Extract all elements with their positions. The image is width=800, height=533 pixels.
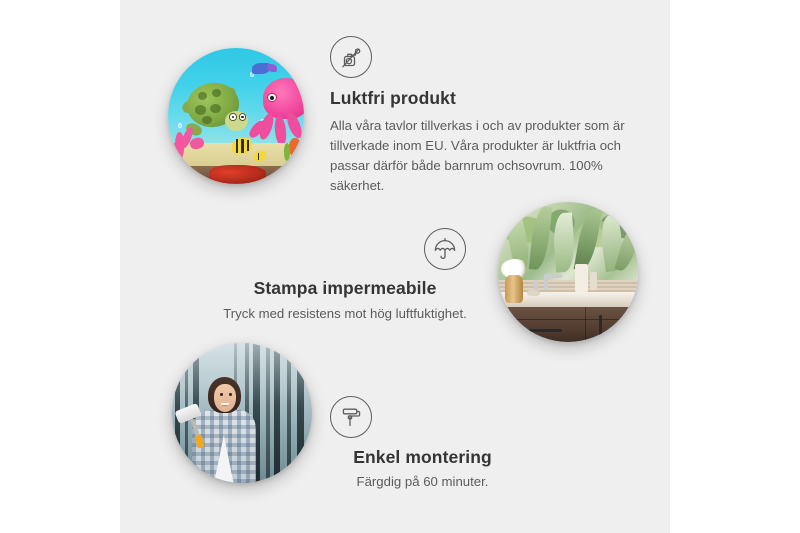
feature-title: Luktfri produkt bbox=[330, 88, 630, 110]
screenshot-stage: Luktfri produkt Alla våra tavlor tillver… bbox=[0, 0, 800, 533]
feature-body: Tryck med resistens mot hög luftfuktighe… bbox=[200, 304, 490, 324]
feature-easy-mounting: Enkel montering Färgdig på 60 minuter. bbox=[305, 396, 540, 492]
feature-waterproof: Stampa impermeabile Tryck med resistens … bbox=[200, 228, 490, 324]
product-image-forest[interactable] bbox=[172, 343, 312, 483]
no-fragrance-icon bbox=[330, 36, 372, 78]
feature-odourless: Luktfri produkt Alla våra tavlor tillver… bbox=[330, 36, 630, 196]
underwater-scene bbox=[168, 48, 304, 184]
product-image-underwater[interactable] bbox=[168, 48, 304, 184]
forest-scene bbox=[172, 343, 312, 483]
product-image-bathroom[interactable] bbox=[498, 202, 638, 342]
bathroom-scene bbox=[498, 202, 638, 342]
feature-title: Enkel montering bbox=[305, 447, 540, 469]
feature-body: Alla våra tavlor tillverkas i och av pro… bbox=[330, 116, 630, 196]
feature-body: Färgdig på 60 minuter. bbox=[305, 472, 540, 492]
feature-title: Stampa impermeabile bbox=[200, 278, 490, 300]
umbrella-icon bbox=[424, 228, 466, 270]
paint-roller-icon bbox=[330, 396, 372, 438]
